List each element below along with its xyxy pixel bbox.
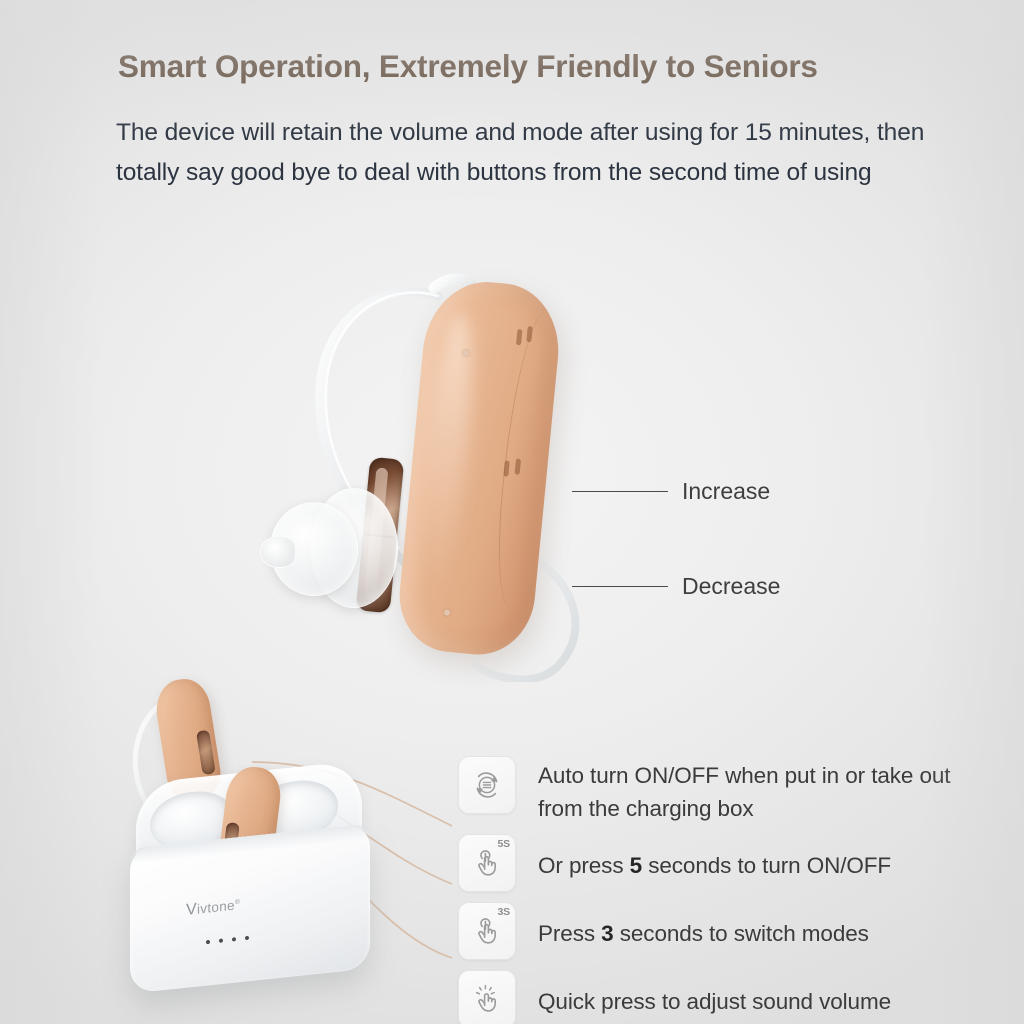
dome-nozzle: [260, 536, 296, 568]
feature-text: Auto turn ON/OFF when put in or take out…: [538, 756, 978, 825]
hold-duration-badge: 3S: [498, 906, 510, 918]
feature-text: Quick press to adjust sound volume: [538, 970, 891, 1018]
leader-line: [572, 491, 668, 493]
callout-increase: Increase: [572, 478, 770, 505]
hearing-aid-illustration: [262, 252, 642, 682]
feature-row: 3S Press 3 seconds to switch modes: [458, 902, 978, 960]
hand-quick-tap-icon: [470, 982, 504, 1016]
hand-press-hold-icon: [470, 846, 504, 880]
feature-icon-tile: [458, 756, 516, 814]
led-dot: [232, 937, 236, 941]
charging-case-illustration: Vivtone®: [112, 676, 422, 1006]
feature-list: Auto turn ON/OFF when put in or take out…: [458, 756, 978, 1024]
callout-decrease-label: Decrease: [682, 573, 780, 600]
feature-text: Or press 5 seconds to turn ON/OFF: [538, 834, 891, 882]
brand-name-text: ivtone: [197, 898, 235, 917]
callout-decrease: Decrease: [572, 573, 780, 600]
feature-text: Press 3 seconds to switch modes: [538, 902, 869, 950]
product-infographic: Smart Operation, Extremely Friendly to S…: [0, 0, 1024, 1024]
feature-icon-tile: 5S: [458, 834, 516, 892]
feature-icon-tile: [458, 970, 516, 1024]
vent-slot: [516, 329, 523, 345]
feature-row: 5S Or press 5 seconds to turn ON/OFF: [458, 834, 978, 892]
callout-increase-label: Increase: [682, 478, 770, 505]
page-title: Smart Operation, Extremely Friendly to S…: [118, 48, 818, 85]
microphone-port: [463, 350, 470, 357]
leader-line: [572, 586, 668, 588]
auto-sync-icon: [470, 768, 504, 802]
hand-press-hold-icon: [470, 914, 504, 948]
led-dot: [219, 938, 223, 942]
led-dot: [245, 936, 249, 940]
hold-duration-badge: 5S: [498, 838, 510, 850]
feature-row: Quick press to adjust sound volume: [458, 970, 978, 1024]
case-base: [130, 823, 370, 993]
feature-icon-tile: 3S: [458, 902, 516, 960]
feature-row: Auto turn ON/OFF when put in or take out…: [458, 756, 978, 825]
brand-registered-mark: ®: [235, 899, 240, 907]
ear-dome-tip: [270, 488, 388, 606]
page-subcopy: The device will retain the volume and mo…: [116, 113, 926, 193]
brand-mark: V: [186, 901, 197, 919]
led-dot: [206, 940, 210, 944]
microphone-port: [444, 609, 451, 616]
